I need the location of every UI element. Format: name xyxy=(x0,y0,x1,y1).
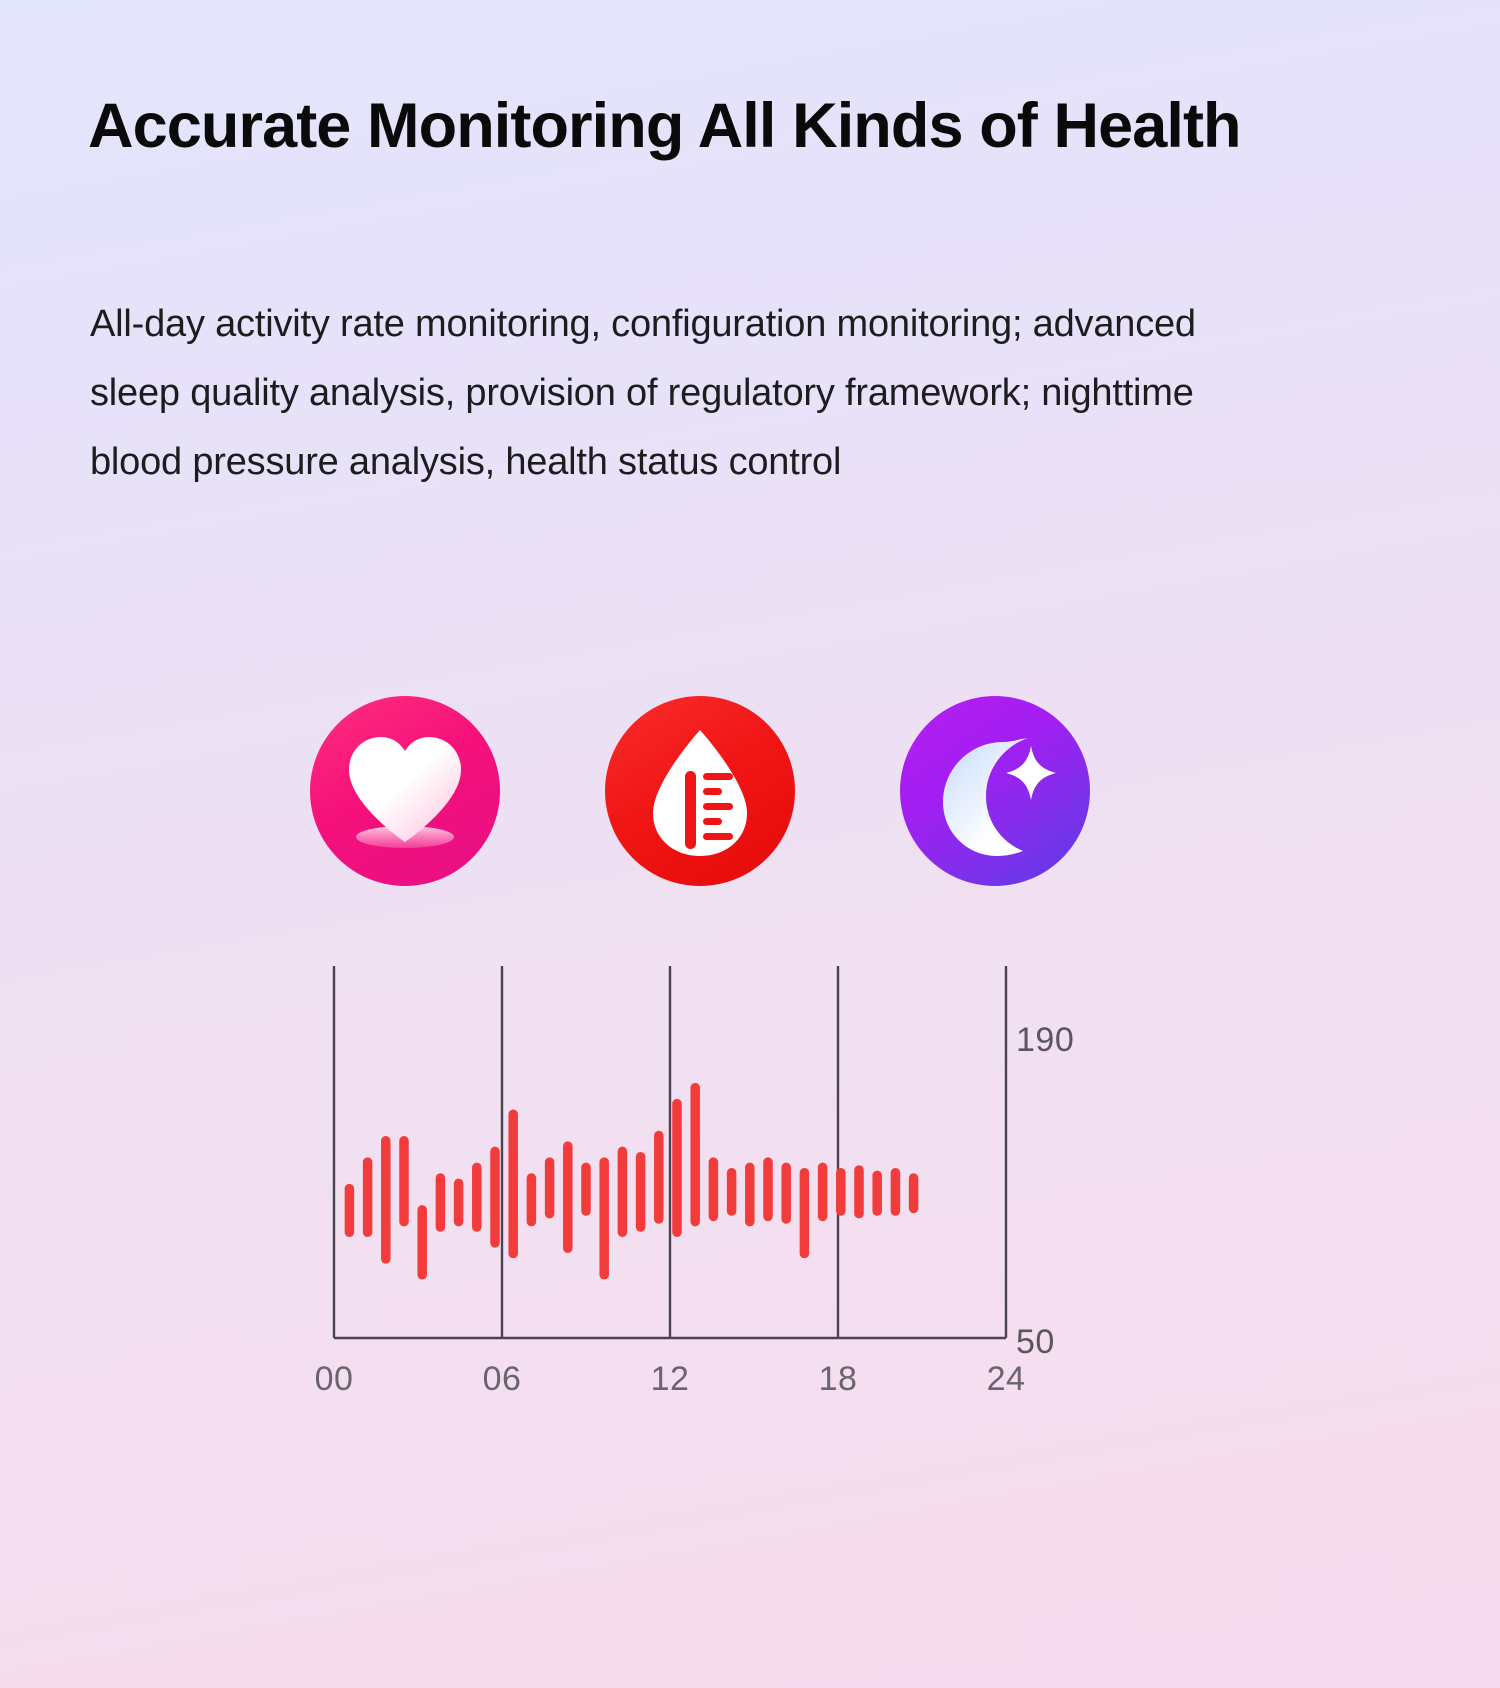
page-title: Accurate Monitoring All Kinds of Health xyxy=(88,90,1288,164)
x-axis-tick-labels: 0006121824 xyxy=(330,1360,1010,1410)
blood-pressure-icon xyxy=(605,696,795,886)
x-tick-00: 00 xyxy=(315,1360,354,1399)
x-tick-12: 12 xyxy=(651,1360,690,1399)
heart-rate-icon xyxy=(310,696,500,886)
y-axis-min-label: 50 xyxy=(1016,1323,1055,1362)
page-description: All-day activity rate monitoring, config… xyxy=(90,290,1295,497)
sleep-icon xyxy=(900,696,1090,886)
x-tick-24: 24 xyxy=(987,1360,1026,1399)
x-tick-06: 06 xyxy=(483,1360,522,1399)
y-axis-max-label: 190 xyxy=(1016,1021,1074,1060)
feature-icon-row xyxy=(310,688,1090,894)
x-tick-18: 18 xyxy=(819,1360,858,1399)
blood-pressure-chart xyxy=(330,966,1010,1356)
promo-page: Accurate Monitoring All Kinds of Health … xyxy=(0,0,1500,1688)
